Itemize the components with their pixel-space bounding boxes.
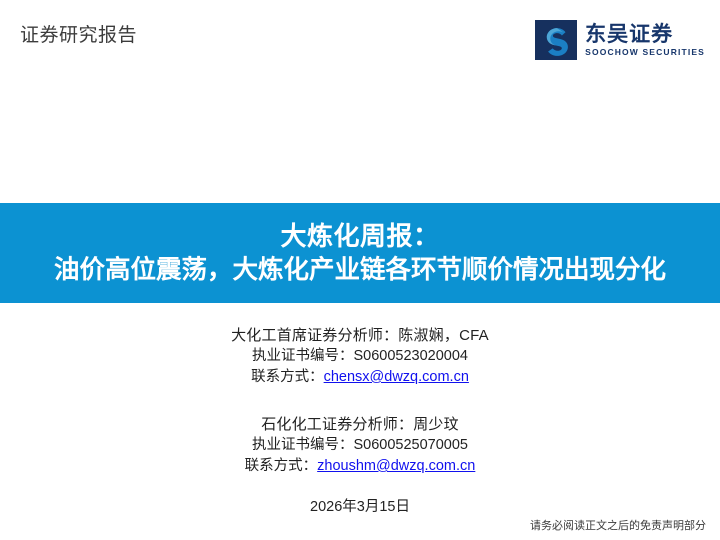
document-header: 证券研究报告 东吴证券 SOOCHOW SECURITIES [0,0,720,88]
analyst-role-and-name: 石化化工证券分析师：周少玟 [0,414,720,435]
logo-wordmark: 东吴证券 SOOCHOW SECURITIES [585,23,705,58]
logo-name-en: SOOCHOW SECURITIES [585,47,705,58]
analyst-contact-row: 联系方式：chensx@dwzq.com.cn [0,367,720,388]
soochow-s-mark-icon [535,20,577,60]
logo-name-cn: 东吴证券 [585,23,705,46]
report-type-label: 证券研究报告 [20,24,137,48]
analyst-license-number: 执业证书编号：S0600523020004 [0,346,720,367]
analyst-contact-label: 联系方式： [251,369,324,385]
analyst-contact-label: 联系方式： [245,458,318,474]
company-logo: 东吴证券 SOOCHOW SECURITIES [535,18,705,62]
report-title-line-1: 大炼化周报： [280,219,439,253]
title-banner: 大炼化周报： 油价高位震荡，大炼化产业链各环节顺价情况出现分化 [0,203,720,303]
analyst-email-link[interactable]: chensx@dwzq.com.cn [324,369,469,385]
report-cover-slide: 证券研究报告 东吴证券 SOOCHOW SECURITIES 大炼化周报： 油价… [0,0,720,540]
analyst-entry: 石化化工证券分析师：周少玟 执业证书编号：S0600525070005 联系方式… [0,414,720,477]
analyst-info-block: 大化工首席证券分析师：陈淑娴，CFA 执业证书编号：S0600523020004… [0,325,720,477]
report-date: 2026年3月15日 [0,497,720,517]
analyst-entry: 大化工首席证券分析师：陈淑娴，CFA 执业证书编号：S0600523020004… [0,325,720,388]
analyst-role-and-name: 大化工首席证券分析师：陈淑娴，CFA [0,325,720,346]
analyst-email-link[interactable]: zhoushm@dwzq.com.cn [317,458,475,474]
report-title-line-2: 油价高位震荡，大炼化产业链各环节顺价情况出现分化 [54,253,666,287]
disclaimer-note: 请务必阅读正文之后的免责声明部分 [530,519,706,534]
analyst-contact-row: 联系方式：zhoushm@dwzq.com.cn [0,456,720,477]
analyst-license-number: 执业证书编号：S0600525070005 [0,435,720,456]
